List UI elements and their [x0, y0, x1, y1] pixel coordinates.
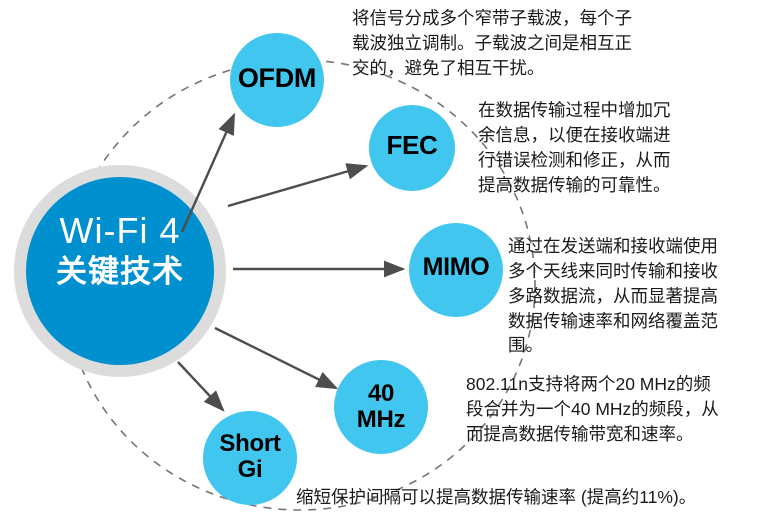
node-circle-40mhz[interactable] [334, 360, 428, 454]
note-shortgi: 缩短保护间隔可以提高数据传输速率 (提高约11%)。 [296, 485, 774, 510]
arrow-to-40mhz [215, 328, 336, 388]
note-40mhz: 802.11n支持将两个20 MHz的频 段合并为一个40 MHz的频段，从 而… [466, 372, 774, 447]
node-circle-ofdm[interactable] [230, 33, 324, 127]
arrow-to-fec [228, 166, 366, 206]
node-circle-shortgi[interactable] [203, 411, 297, 505]
note-ofdm: 将信号分成多个窄带子载波，每个子 载波独立调制。子载波之间是相互正 交的，避免了… [352, 6, 772, 81]
node-circle-mimo[interactable] [409, 223, 503, 317]
arrow-to-shortgi [178, 362, 223, 410]
node-circle-fec[interactable] [369, 105, 455, 191]
note-mimo: 通过在发送端和接收端使用 多个天线来同时传输和接收 多路数据流，从而显著提高 数… [508, 234, 774, 358]
note-fec: 在数据传输过程中增加冗 余信息，以便在接收端进 行错误检测和修正，从而 提高数据… [478, 98, 774, 197]
hub-circle [26, 177, 214, 365]
diagram-canvas: Wi-Fi 4 关键技术 OFDM FEC MIMO 40 MHz Short … [0, 0, 774, 519]
